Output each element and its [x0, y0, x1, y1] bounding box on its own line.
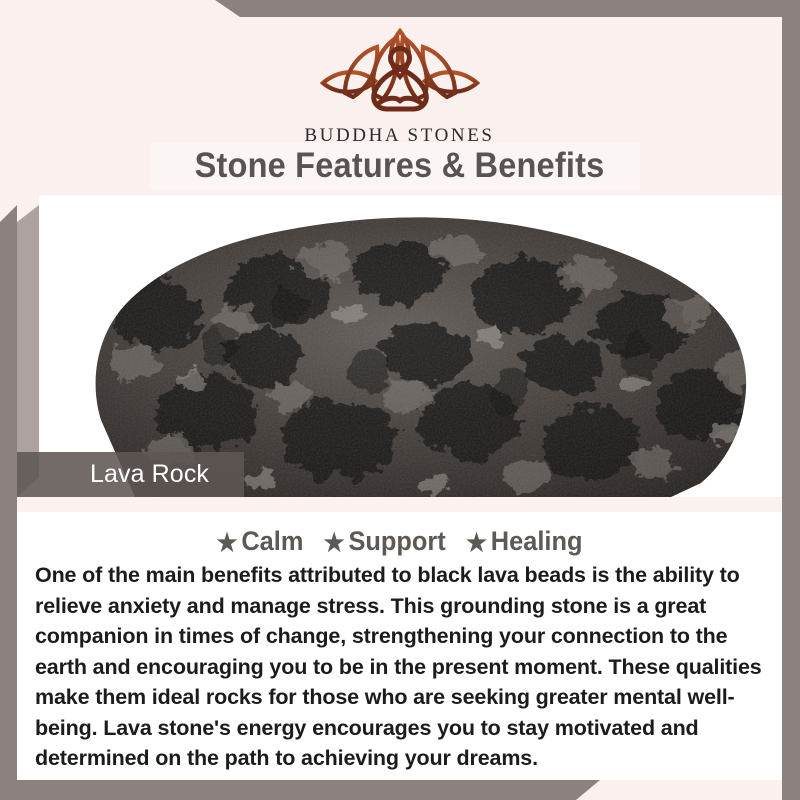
body-card: ★Calm ★Support ★Healing One of the main …	[17, 512, 782, 780]
page-title: Stone Features & Benefits	[44, 141, 755, 191]
lotus-meditation-icon	[305, 25, 495, 123]
description-paragraph: One of the main benefits attributed to b…	[35, 560, 777, 774]
star-icon: ★	[466, 524, 487, 562]
divider-strip	[17, 497, 782, 512]
benefits-row: ★Calm ★Support ★Healing	[40, 522, 759, 562]
frame-bottom-bar	[0, 780, 800, 800]
benefit-label: Healing	[491, 526, 583, 556]
benefit-item: ★Support	[324, 522, 446, 562]
frame-top-bar	[0, 0, 800, 17]
star-icon: ★	[324, 524, 345, 562]
frame-left-bar	[0, 0, 17, 800]
infographic-poster: BUDDHA STONES Stone Features & Benefits	[0, 0, 800, 800]
benefit-item: ★Healing	[466, 522, 583, 562]
star-icon: ★	[217, 524, 238, 562]
brand-logo: BUDDHA STONES	[17, 25, 782, 147]
frame-right-bar	[782, 0, 800, 800]
photo-caption-label: Lava Rock	[90, 456, 209, 492]
benefit-label: Calm	[241, 526, 303, 556]
benefit-item: ★Calm	[217, 522, 304, 562]
benefit-label: Support	[348, 526, 445, 556]
